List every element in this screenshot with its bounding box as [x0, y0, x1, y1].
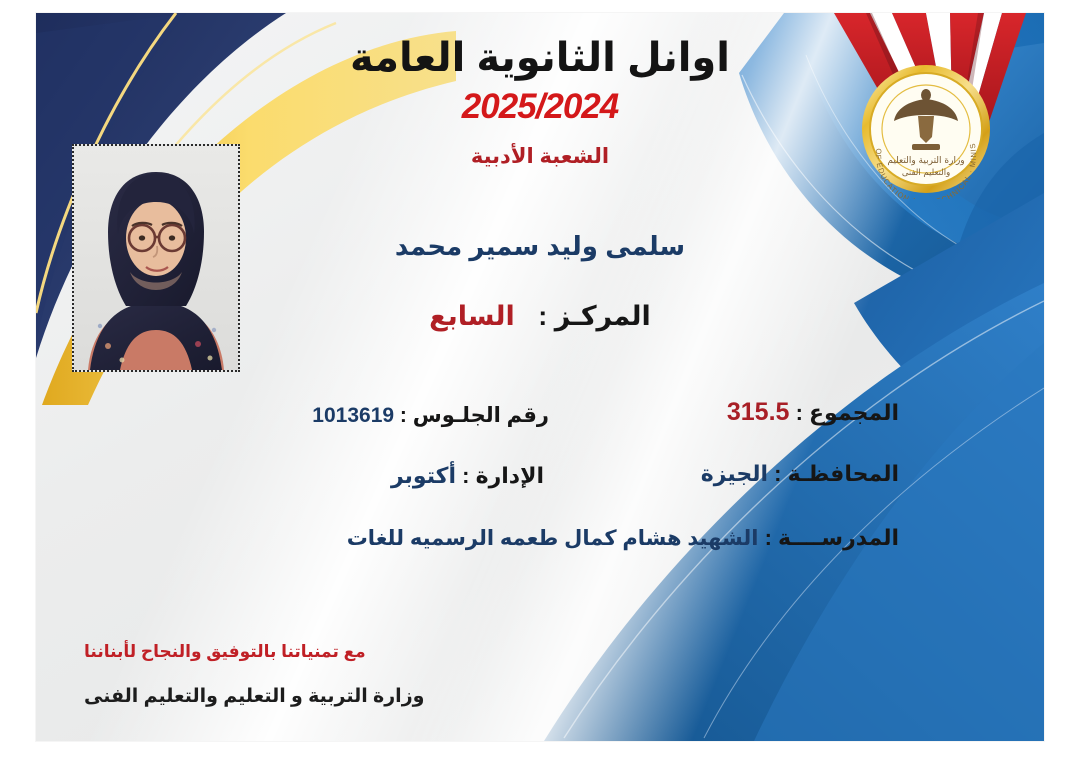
governorate-colon: :: [774, 461, 781, 486]
administration-row: الإدارة : أكتوبر: [391, 463, 544, 489]
school-row: المدرســــة : الشهيد هشام كمال طعمه الرس…: [347, 525, 899, 551]
total-colon: :: [796, 400, 803, 425]
school-label: المدرســــة: [778, 525, 899, 550]
blue-ribbon-svg: [424, 133, 1044, 741]
footer-wishes: مع تمنياتنا بالتوفيق والنجاح لأبناننا: [84, 642, 366, 662]
rank-separator: :: [538, 301, 547, 331]
administration-colon: :: [462, 463, 469, 488]
governorate-label: المحافظـة: [788, 461, 899, 486]
academic-year: 2025/2024: [36, 87, 1044, 127]
seat-number-row: رقم الجلـوس : 1013619: [312, 403, 549, 428]
administration-label: الإدارة: [476, 463, 544, 488]
decorative-blue-ribbons: [424, 133, 1044, 741]
student-name: سلمى وليد سمير محمد: [36, 231, 1044, 262]
seat-value: 1013619: [312, 404, 394, 427]
page-title: اوانل الثانوية العامة: [36, 37, 1044, 79]
certificate-card: وزارة التربية والتعليم والتعليم الفنى OF…: [36, 13, 1044, 741]
rank-label: المركـز: [555, 301, 651, 331]
administration-value: أكتوبر: [391, 463, 456, 488]
total-label: المجموع: [809, 400, 899, 425]
medal-center-text-2: والتعليم الفنى: [902, 168, 950, 178]
school-colon: :: [765, 525, 772, 550]
rank-value: السابع: [429, 301, 515, 331]
school-value: الشهيد هشام كمال طعمه الرسميه للغات: [347, 527, 759, 550]
governorate-value: الجيزة: [701, 461, 768, 486]
rank-line: المركـز : السابع: [36, 301, 1044, 332]
total-score-row: المجموع : 315.5: [727, 398, 899, 427]
footer-ministry: وزارة التربية و التعليم والتعليم الفنى: [84, 685, 424, 708]
total-value: 315.5: [727, 398, 790, 426]
screenshot-root: وزارة التربية والتعليم والتعليم الفنى OF…: [0, 0, 1080, 764]
seat-label: رقم الجلـوس :: [400, 404, 549, 427]
governorate-row: المحافظـة : الجيزة: [701, 461, 899, 487]
